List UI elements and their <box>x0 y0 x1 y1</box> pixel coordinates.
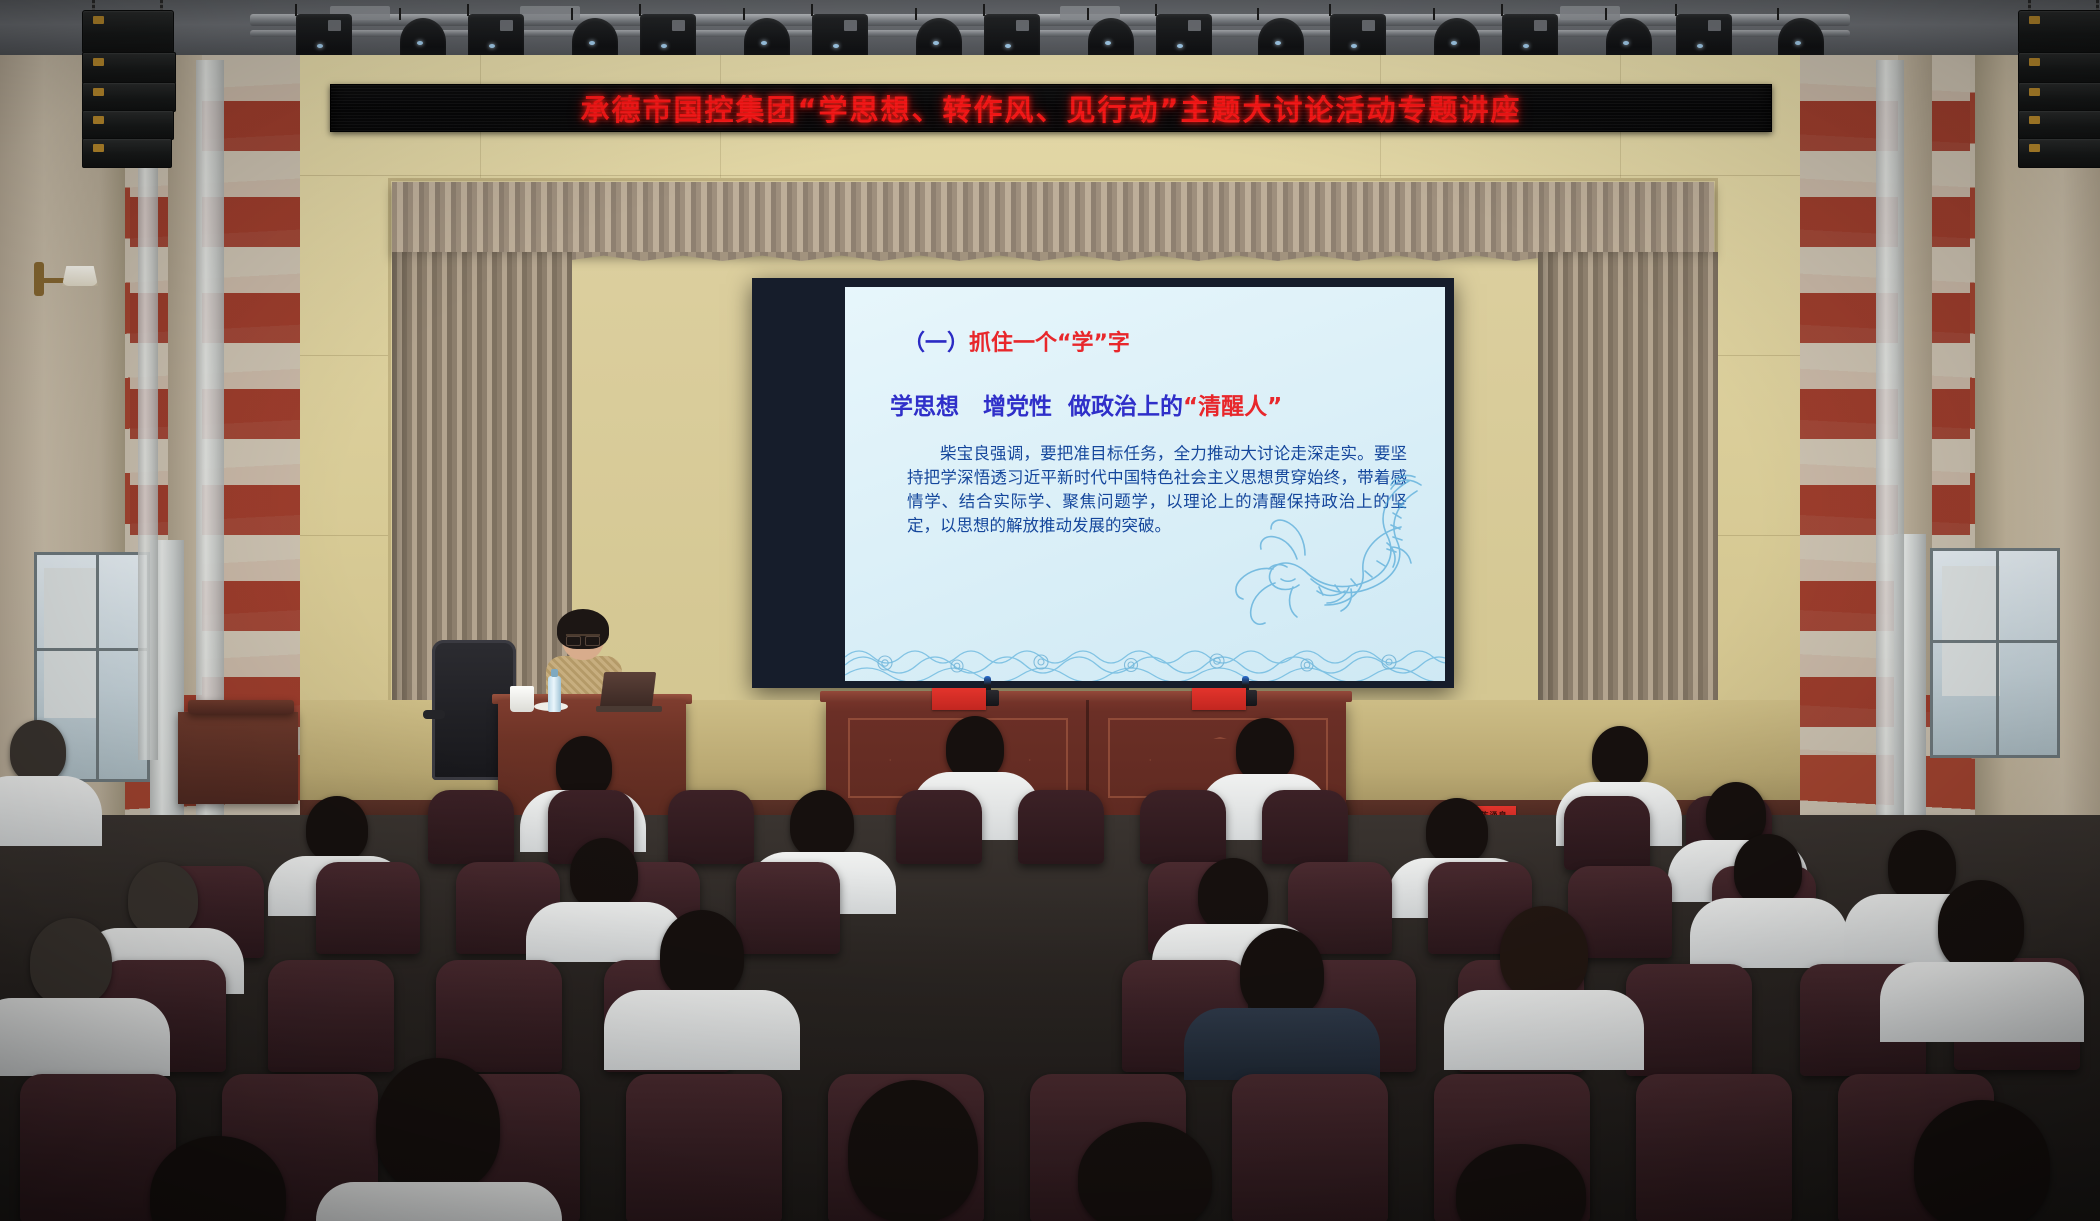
audience-head <box>1938 880 2024 972</box>
slide-heading-main: 抓住一个“学”字 <box>969 331 1130 356</box>
laptop-screen <box>600 672 656 708</box>
audience-shoulders <box>0 776 102 846</box>
audience-seat <box>268 960 394 1072</box>
slide-subheading: 学思想 增党性 做政治上的“清醒人” <box>890 387 1282 421</box>
audience-shoulders <box>1880 962 2084 1042</box>
audience-seat <box>668 790 754 864</box>
mug <box>510 686 534 712</box>
audience-seat <box>436 960 562 1072</box>
slide-heading: （一）抓住一个“学”字 <box>903 325 1130 357</box>
wall-sconce-arm <box>42 278 66 283</box>
audience-head <box>1426 798 1488 864</box>
audience-shoulders <box>0 998 170 1076</box>
audience-shoulders <box>1690 898 1848 968</box>
audience-seat <box>316 862 420 954</box>
chinese-dragon-decoration <box>1201 467 1431 647</box>
slide-subheading-highlight: “清醒人” <box>1183 394 1282 420</box>
glasses-icon <box>566 634 600 644</box>
audience-seat <box>736 862 840 954</box>
led-banner: 承德市国控集团“学思想、转作风、见行动”主题大讨论活动专题讲座 <box>330 84 1772 132</box>
audience-shoulders <box>604 990 800 1070</box>
audience-head <box>306 796 368 862</box>
slide-subheading-c: 做政治上的 <box>1068 394 1183 420</box>
audience-head <box>570 838 638 910</box>
audience-head <box>1734 834 1802 906</box>
water-bottle <box>548 676 561 712</box>
slide-subheading-a: 学思想 <box>890 394 959 420</box>
audience-seat <box>428 790 514 864</box>
audience-head <box>1888 830 1956 902</box>
audience-head <box>1240 928 1324 1018</box>
audience-head-foreground <box>848 1080 978 1221</box>
audience-shoulders <box>1184 1008 1380 1080</box>
audience-seat <box>1232 1074 1388 1221</box>
audience-head <box>946 716 1004 780</box>
audience-head-foreground <box>1914 1100 2050 1221</box>
name-card <box>1192 688 1246 710</box>
name-card <box>932 688 986 710</box>
audience-shoulders <box>1444 990 1644 1070</box>
audience-seat <box>1626 964 1752 1076</box>
audience-head <box>30 918 112 1006</box>
slide-heading-prefix: （一） <box>903 331 969 356</box>
right-window <box>1930 548 2060 758</box>
audience-head <box>790 790 854 858</box>
audience-shoulders <box>316 1182 562 1221</box>
audience-seat <box>1564 796 1650 870</box>
audience-head <box>1592 726 1648 788</box>
right-hall-drape <box>1876 60 1904 820</box>
stage-curtain-valance <box>392 182 1714 254</box>
audience-head <box>128 862 198 936</box>
audience-head <box>1236 718 1294 782</box>
wall-sconce-lamp-icon <box>62 266 98 286</box>
audience-seat <box>1140 790 1226 864</box>
audience-seat <box>1262 790 1348 864</box>
laptop-base <box>596 706 662 712</box>
left-side-desk-top <box>188 700 294 714</box>
audience-seat <box>1018 790 1104 864</box>
audience-head <box>10 720 66 782</box>
audience-head <box>556 736 612 798</box>
audience-head <box>1198 858 1268 932</box>
audience-seat <box>896 790 982 864</box>
led-banner-text: 承德市国控集团“学思想、转作风、见行动”主题大讨论活动专题讲座 <box>580 87 1521 129</box>
ceiling-plate <box>1560 6 1620 20</box>
projection-screen: （一）抓住一个“学”字 学思想 增党性 做政治上的“清醒人” 柴宝良强调，要把准… <box>845 287 1445 681</box>
audience-head <box>660 910 744 1000</box>
audience-seat <box>626 1074 782 1221</box>
audience-head-foreground <box>376 1058 500 1192</box>
conference-hall-photo: 承德市国控集团“学思想、转作风、见行动”主题大讨论活动专题讲座 （一）抓住一个“… <box>0 0 2100 1221</box>
slide-subheading-b: 增党性 <box>983 394 1052 420</box>
audience-head <box>1500 906 1588 1000</box>
audience-seat <box>1636 1074 1792 1221</box>
stage-curtain-right <box>1538 252 1718 742</box>
left-side-desk <box>178 712 298 804</box>
audience-head-foreground <box>1078 1122 1212 1221</box>
